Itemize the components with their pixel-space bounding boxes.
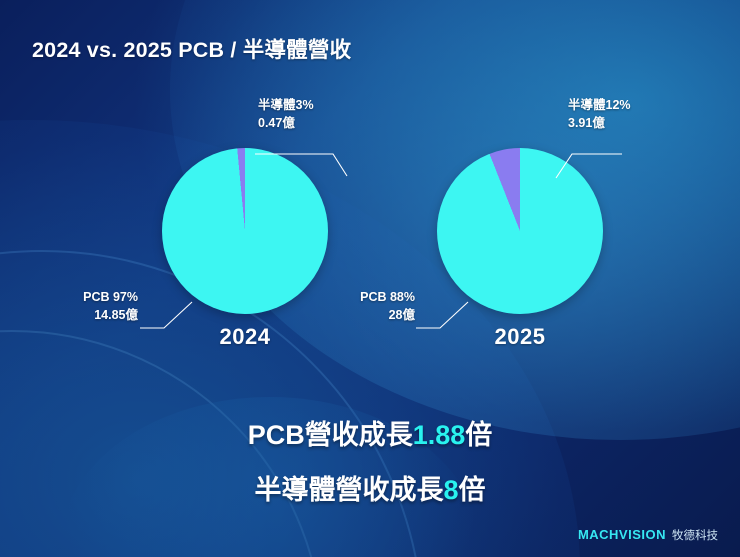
callout-2024-semiconductor-line2: 0.47億 [258,114,314,132]
pie-wrap-2024 [162,148,328,314]
pie-year-label-2024: 2024 [145,324,345,350]
callout-2024-pcb: PCB 97% 14.85億 [28,288,138,324]
callout-2024-pcb-line2: 14.85億 [28,306,138,324]
pie-chart-2025 [437,148,603,314]
statement-semiconductor-growth-suffix: 倍 [459,475,486,505]
page-title: 2024 vs. 2025 PCB / 半導體營收 [32,33,351,64]
statement-semiconductor-growth-prefix: 半導體營收成長 [254,475,443,505]
statement-pcb-growth-prefix: PCB營收成長 [248,420,413,450]
callout-2025-pcb: PCB 88% 28億 [305,288,415,324]
logo-brand-cn-text: 牧德科技 [672,527,718,543]
statement-pcb-growth-suffix: 倍 [465,420,492,450]
logo-brand-text: MACHVISION [578,527,666,542]
callout-2024-semiconductor: 半導體3% 0.47億 [258,96,314,132]
pie-wrap-2025 [437,148,603,314]
slide-canvas: 2024 vs. 2025 PCB / 半導體營收 2024 半導體3% 0.4… [0,0,740,557]
callout-2025-pcb-line2: 28億 [305,306,415,324]
company-logo: MACHVISION 牧德科技 [578,527,718,543]
pie-chart-2024 [162,148,328,314]
callout-2025-semiconductor-line2: 3.91億 [568,114,631,132]
callout-2025-pcb-line1: PCB 88% [305,288,415,306]
callout-2024-semiconductor-line1: 半導體3% [258,96,314,114]
callout-2025-semiconductor-line1: 半導體12% [568,96,631,114]
callout-2024-pcb-line1: PCB 97% [28,288,138,306]
statement-semiconductor-growth-value: 8 [443,475,458,505]
statement-pcb-growth: PCB營收成長1.88倍 [0,413,740,452]
callout-2025-semiconductor: 半導體12% 3.91億 [568,96,631,132]
statement-semiconductor-growth: 半導體營收成長8倍 [0,468,740,507]
statement-pcb-growth-value: 1.88 [413,420,466,450]
pie-block-2025: 2025 [420,148,620,350]
pie-year-label-2025: 2025 [420,324,620,350]
